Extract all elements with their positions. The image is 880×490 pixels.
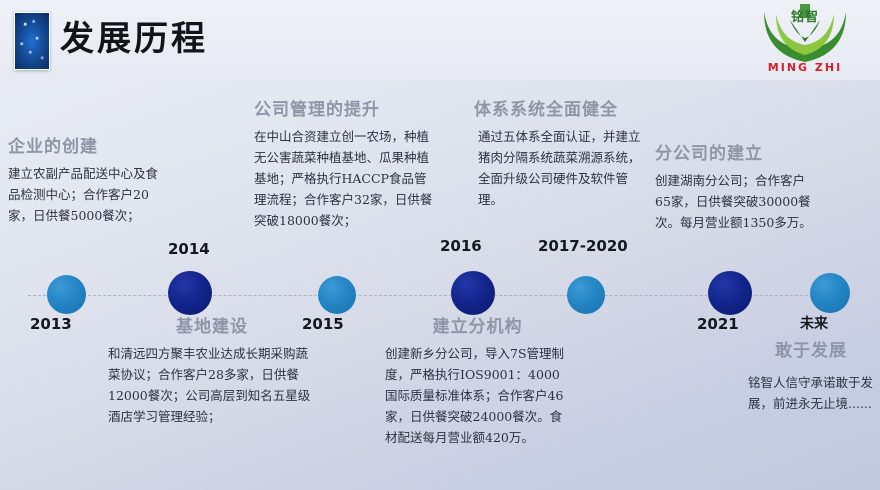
- milestone-body: 创建湖南分公司；合作客户65家，日供餐突破30000餐次。每月营业额1350多万…: [655, 170, 817, 233]
- slide-canvas: 发展历程 铭智 MING ZHI 2013 2014 2015 2016 201…: [0, 0, 880, 490]
- milestone-body: 和清远四方聚丰农业达成长期采购蔬菜协议；合作客户28多家，日供餐12000餐次；…: [108, 343, 316, 427]
- milestone-block-2021: 分公司的建立 创建湖南分公司；合作客户65家，日供餐突破30000餐次。每月营业…: [655, 143, 817, 233]
- milestone-body: 通过五体系全面认证，并建立猪肉分隔系统蔬菜溯源系统，全面升级公司硬件及软件管理。: [478, 126, 643, 210]
- year-label-future: 未来: [800, 313, 828, 333]
- company-logo: 铭智 MING ZHI: [746, 4, 864, 76]
- timeline-node-2017-2020[interactable]: [567, 276, 605, 314]
- milestone-heading: 企业的创建: [8, 136, 170, 158]
- milestone-body: 建立农副产品配送中心及食品检测中心；合作客户20家，日供餐5000餐次；: [8, 163, 170, 226]
- milestone-body: 在中山合资建立创一农场，种植无公害蔬菜种植基地、瓜果种植基地；严格执行HACCP…: [254, 126, 436, 231]
- milestone-block-2016: 建立分机构 创建新乡分公司，导入7S管理制度，严格执行IOS9001：4000国…: [385, 316, 570, 448]
- milestone-heading: 公司管理的提升: [254, 99, 436, 121]
- milestone-block-2017-2020: 体系系统全面健全 通过五体系全面认证，并建立猪肉分隔系统蔬菜溯源系统，全面升级公…: [478, 99, 643, 210]
- milestone-block-2015: 公司管理的提升 在中山合资建立创一农场，种植无公害蔬菜种植基地、瓜果种植基地；严…: [254, 99, 436, 231]
- milestone-block-future: 敢于发展 铭智人信守承诺敢于发展，前进永无止境......: [748, 340, 874, 414]
- timeline-node-future[interactable]: [810, 273, 850, 313]
- milestone-heading: 建立分机构: [385, 316, 570, 338]
- milestone-block-2013: 企业的创建 建立农副产品配送中心及食品检测中心；合作客户20家，日供餐5000餐…: [8, 136, 170, 226]
- starfield-rectangle-icon: [14, 12, 50, 70]
- timeline-node-2013[interactable]: [47, 275, 86, 314]
- year-label-2021: 2021: [697, 315, 739, 333]
- page-title: 发展历程: [60, 16, 208, 62]
- year-label-2017-2020: 2017-2020: [538, 237, 628, 255]
- logo-english-name: MING ZHI: [746, 61, 864, 74]
- timeline-node-2014[interactable]: [168, 271, 212, 315]
- year-label-2013: 2013: [30, 315, 72, 333]
- timeline-node-2016[interactable]: [451, 271, 495, 315]
- milestone-heading: 体系系统全面健全: [474, 99, 643, 121]
- year-label-2016: 2016: [440, 237, 482, 255]
- logo-chinese-name: 铭智: [746, 6, 864, 25]
- timeline-node-2015[interactable]: [318, 276, 356, 314]
- milestone-block-2014: 基地建设 和清远四方聚丰农业达成长期采购蔬菜协议；合作客户28多家，日供餐120…: [108, 316, 316, 427]
- milestone-body: 铭智人信守承诺敢于发展，前进永无止境......: [748, 372, 874, 414]
- milestone-heading: 敢于发展: [748, 340, 874, 362]
- milestone-heading: 分公司的建立: [655, 143, 817, 165]
- milestone-heading: 基地建设: [108, 316, 316, 338]
- milestone-body: 创建新乡分公司，导入7S管理制度，严格执行IOS9001：4000国际质量标准体…: [385, 343, 570, 448]
- timeline-node-2021[interactable]: [708, 271, 752, 315]
- year-label-2014: 2014: [168, 240, 210, 258]
